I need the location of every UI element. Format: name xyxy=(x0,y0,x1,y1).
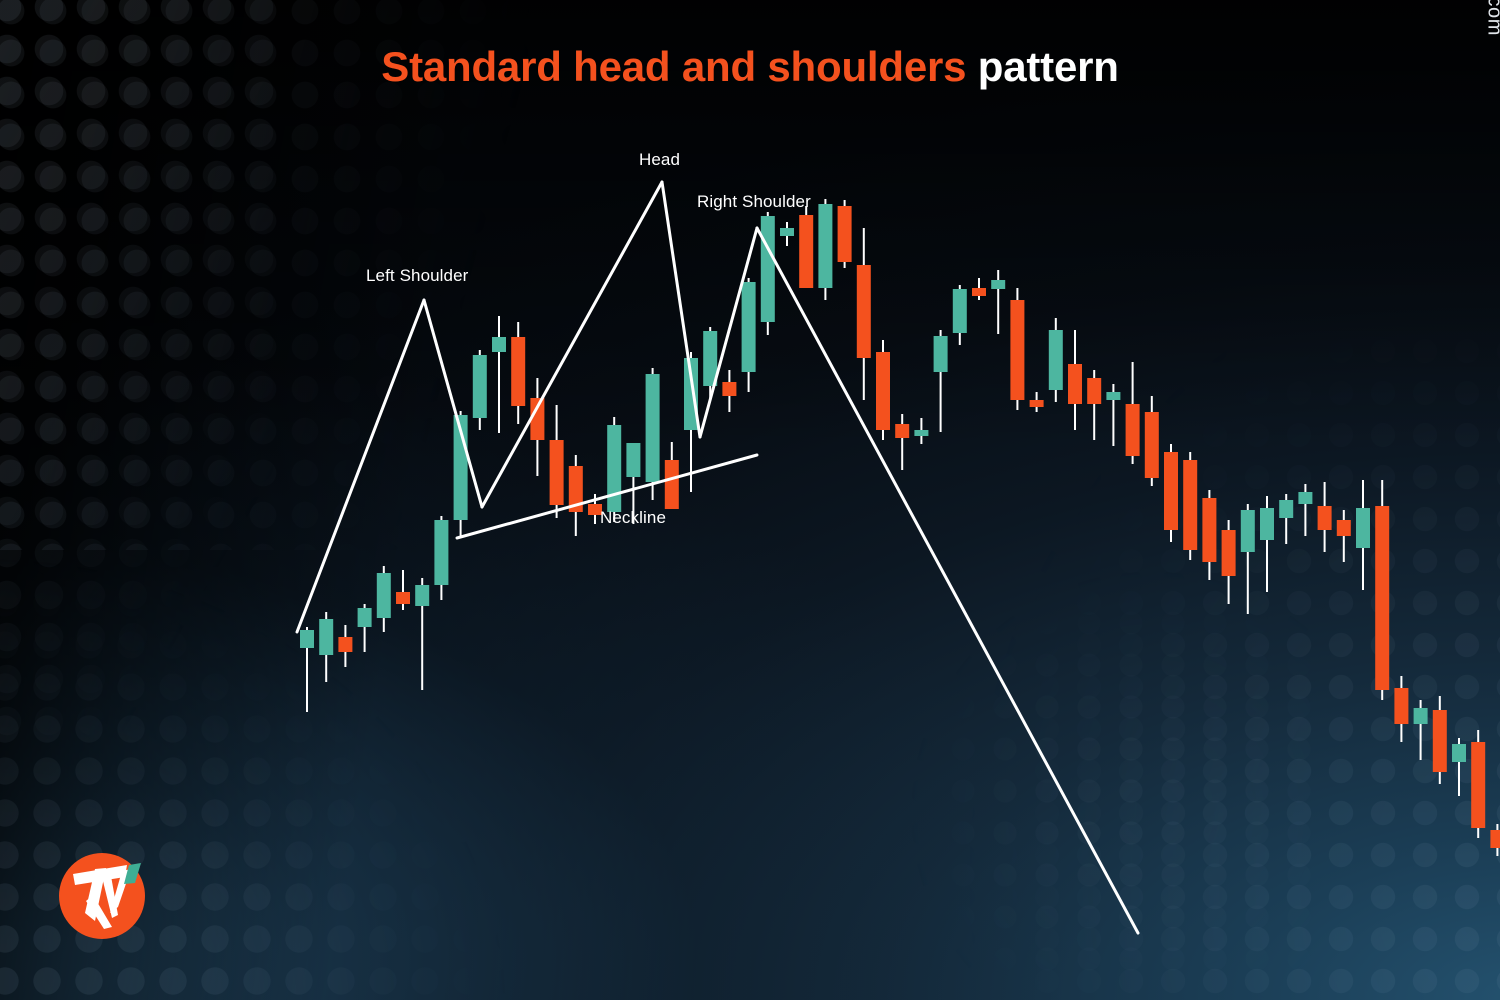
candle-body-bullish xyxy=(780,228,794,236)
candle-body-bullish xyxy=(607,425,621,512)
candle-body-bullish xyxy=(377,573,391,618)
candle-wick xyxy=(1304,484,1306,536)
pattern-line-right-shoulder-fall xyxy=(757,228,1138,933)
candle-body-bearish xyxy=(1337,520,1351,536)
candle-body-bearish xyxy=(1145,412,1159,478)
candle-body-bearish xyxy=(1087,378,1101,404)
annotation-label-neckline: Neckline xyxy=(600,508,666,528)
infographic-canvas: Standard head and shoulders pattern trad… xyxy=(0,0,1500,1000)
candle-body-bearish xyxy=(1222,530,1236,576)
candle-body-bullish xyxy=(1241,510,1255,552)
candle-body-bullish xyxy=(415,585,429,606)
candle-body-bullish xyxy=(1260,508,1274,540)
candle-body-bearish xyxy=(1202,498,1216,562)
candles-layer xyxy=(300,199,1500,942)
candle-body-bullish xyxy=(818,204,832,288)
candle-body-bearish xyxy=(1490,830,1500,848)
annotation-label-right-shoulder: Right Shoulder xyxy=(697,192,811,212)
candle-body-bearish xyxy=(799,215,813,288)
candle-body-bullish xyxy=(1414,708,1428,724)
candle-body-bullish xyxy=(761,216,775,322)
trade-nation-logo[interactable] xyxy=(55,843,155,943)
candle-body-bearish xyxy=(838,206,852,262)
candle-body-bullish xyxy=(953,289,967,333)
candle-body-bearish xyxy=(722,382,736,396)
candle-wick xyxy=(901,414,903,470)
candle-body-bearish xyxy=(1375,506,1389,690)
candle-body-bearish xyxy=(396,592,410,604)
annotation-label-head: Head xyxy=(639,150,680,170)
candle-body-bullish xyxy=(300,630,314,648)
candle-body-bearish xyxy=(1394,688,1408,724)
pattern-line-head-fall xyxy=(662,182,700,437)
candle-body-bearish xyxy=(1433,710,1447,772)
candle-body-bullish xyxy=(1049,330,1063,390)
candle-body-bullish xyxy=(1298,492,1312,504)
candle-wick xyxy=(498,316,500,433)
candle-body-bearish xyxy=(550,440,564,505)
candle-body-bearish xyxy=(1030,400,1044,407)
candle-body-bullish xyxy=(646,374,660,482)
candle-body-bullish xyxy=(492,337,506,352)
candle-body-bullish xyxy=(914,430,928,436)
pattern-line-left-shoulder-rise xyxy=(297,300,424,632)
candle-body-bearish xyxy=(895,424,909,438)
candle-body-bullish xyxy=(358,608,372,627)
candle-body-bullish xyxy=(1452,744,1466,762)
candle-body-bearish xyxy=(876,352,890,430)
candle-body-bearish xyxy=(1471,742,1485,828)
candle-body-bearish xyxy=(338,637,352,652)
pattern-lines-layer xyxy=(297,182,1138,933)
candle-body-bearish xyxy=(665,460,679,509)
candle-body-bearish xyxy=(1164,452,1178,530)
candle-wick xyxy=(997,270,999,334)
candle-body-bearish xyxy=(857,265,871,358)
candlestick-chart xyxy=(0,0,1500,1000)
candle-body-bearish xyxy=(1010,300,1024,400)
candle-body-bearish xyxy=(1126,404,1140,456)
annotation-label-left-shoulder: Left Shoulder xyxy=(366,266,468,286)
candle-body-bullish xyxy=(934,336,948,372)
candle-body-bullish xyxy=(1279,500,1293,518)
candle-body-bearish xyxy=(1318,506,1332,530)
candle-body-bearish xyxy=(1068,364,1082,404)
candle-body-bullish xyxy=(319,619,333,655)
candle-body-bullish xyxy=(473,355,487,418)
candle-body-bearish xyxy=(1183,460,1197,550)
candle-body-bullish xyxy=(991,280,1005,289)
candle-body-bullish xyxy=(626,443,640,477)
candle-body-bullish xyxy=(742,282,756,372)
candle-body-bullish xyxy=(1356,508,1370,548)
candle-body-bullish xyxy=(1106,392,1120,400)
candle-body-bullish xyxy=(434,520,448,585)
candle-body-bearish xyxy=(972,288,986,296)
candle-body-bearish xyxy=(511,337,525,406)
